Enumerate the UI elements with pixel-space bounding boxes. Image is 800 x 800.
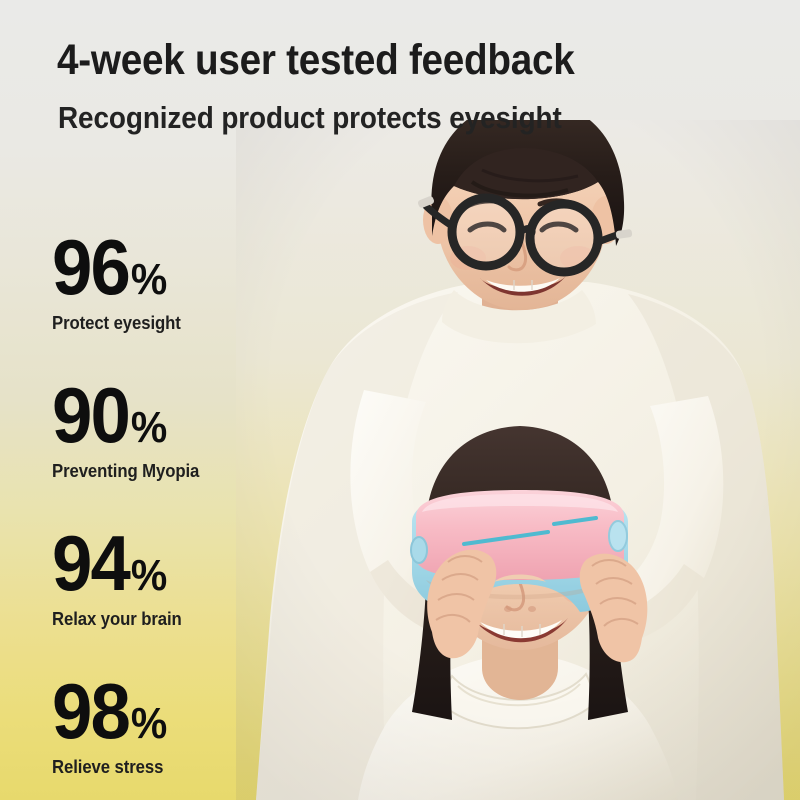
stat-item-relax-your-brain: 94 % Relax your brain bbox=[52, 524, 282, 630]
stat-item-relieve-stress: 98 % Relieve stress bbox=[52, 672, 282, 778]
stat-label: Relax your brain bbox=[52, 609, 266, 630]
promo-poster: 4-week user tested feedback Recognized p… bbox=[0, 0, 800, 800]
stat-label: Protect eyesight bbox=[52, 313, 266, 334]
stat-value: 94 % bbox=[52, 524, 266, 602]
stat-item-protect-eyesight: 96 % Protect eyesight bbox=[52, 228, 282, 334]
product-photo bbox=[236, 120, 800, 800]
statistics-list: 96 % Protect eyesight 90 % Preventing My… bbox=[0, 0, 260, 800]
stat-value: 90 % bbox=[52, 376, 266, 454]
stat-percent-sign: % bbox=[131, 702, 166, 746]
stat-percent-sign: % bbox=[131, 406, 166, 450]
stat-percent-sign: % bbox=[131, 258, 166, 302]
stat-item-preventing-myopia: 90 % Preventing Myopia bbox=[52, 376, 282, 482]
stat-number: 94 bbox=[52, 524, 129, 602]
stat-label: Relieve stress bbox=[52, 757, 266, 778]
stat-label: Preventing Myopia bbox=[52, 461, 266, 482]
stat-number: 98 bbox=[52, 672, 129, 750]
stat-percent-sign: % bbox=[131, 554, 166, 598]
stat-number: 96 bbox=[52, 228, 129, 306]
stat-value: 96 % bbox=[52, 228, 266, 306]
stat-value: 98 % bbox=[52, 672, 266, 750]
stat-number: 90 bbox=[52, 376, 129, 454]
